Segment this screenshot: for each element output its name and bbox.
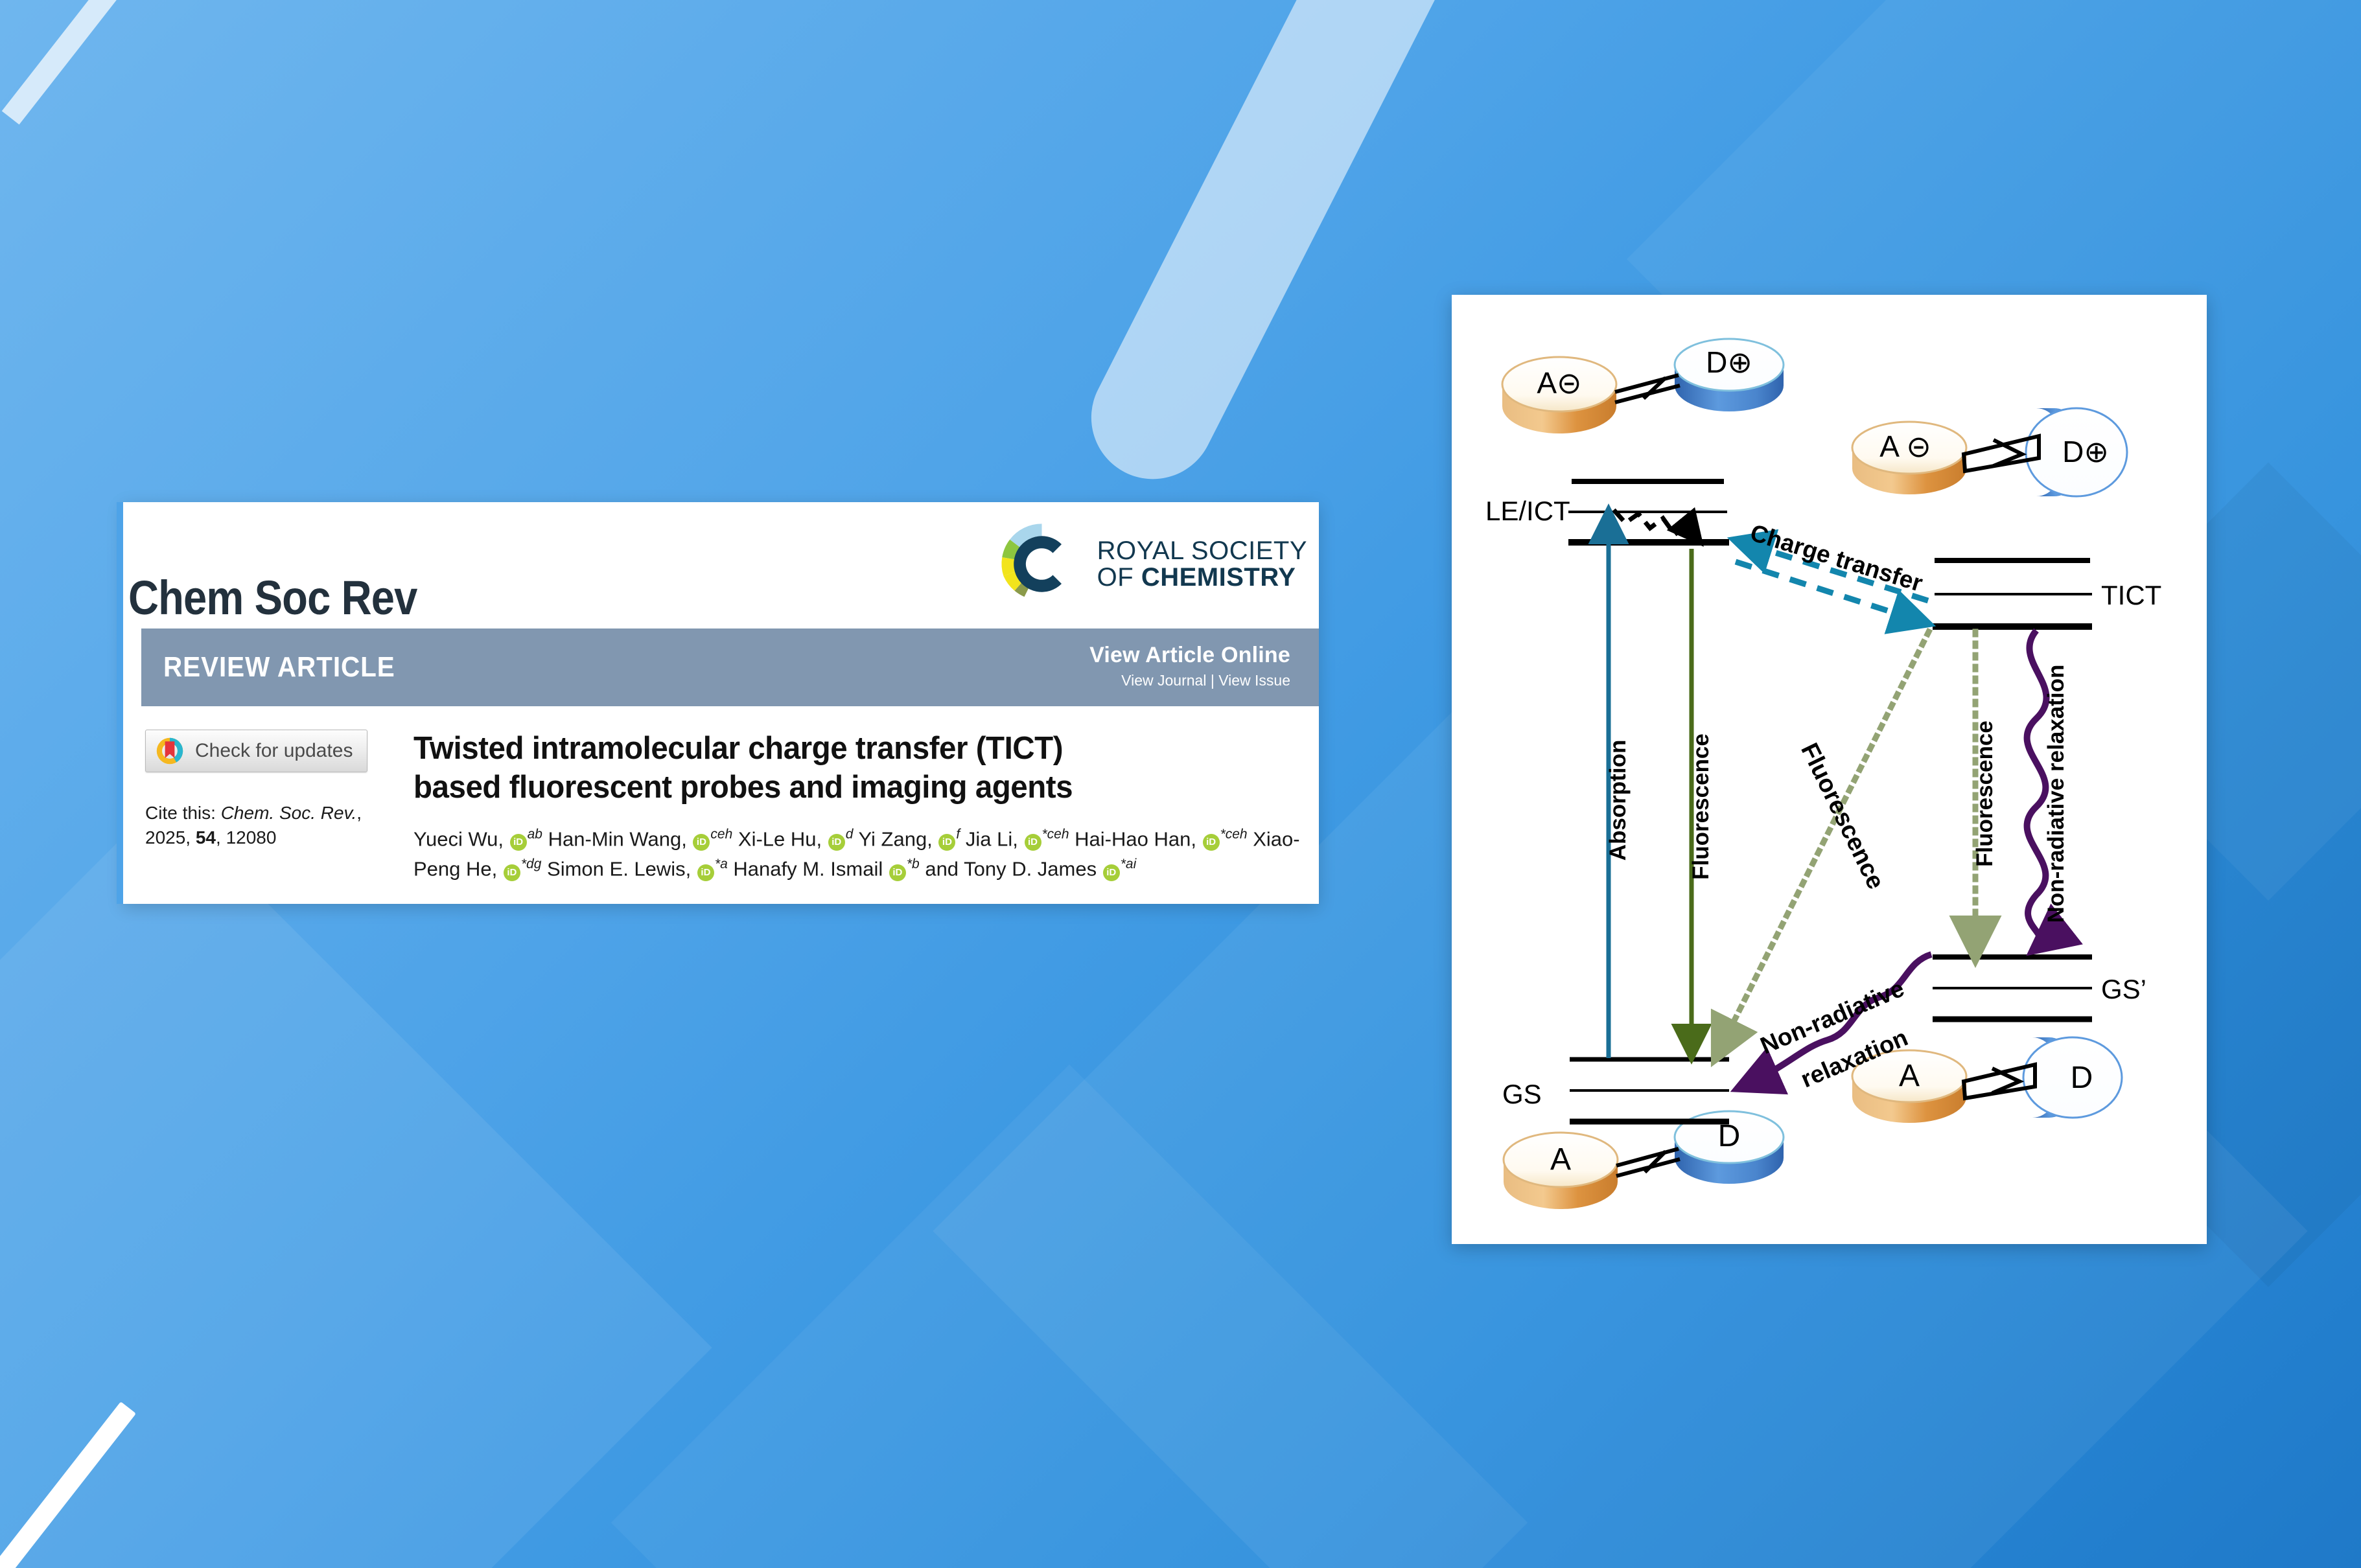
cite-prefix: Cite this: [145,803,221,823]
orcid-icon[interactable]: iD [504,864,520,881]
charge-transfer-label: Charge transfer [1747,519,1925,597]
publisher-line2-chemistry: CHEMISTRY [1141,563,1296,592]
molecule-tict: A ⊝ D⊕ [1852,408,2127,496]
energy-levels-tict [1933,560,2092,627]
author-affiliation: *ceh [1042,827,1069,842]
publisher-line1: ROYAL SOCIETY [1097,538,1307,564]
fluorescence-le-label: Fluorescence [1688,733,1714,880]
orcid-icon[interactable]: iD [1025,834,1041,851]
orcid-icon[interactable]: iD [693,834,710,851]
orcid-icon[interactable]: iD [828,834,845,851]
publisher-line2-of: OF [1097,563,1141,592]
energy-levels-gs [1570,1059,1729,1122]
view-article-online-block[interactable]: View Article Online View Journal | View … [1089,643,1290,689]
author-affiliation: *a [715,857,728,871]
journal-title: Chem Soc Rev [128,570,417,625]
author-name: Jia Li, [966,827,1024,850]
gs-state-label: GS [1502,1079,1542,1109]
cite-volume: 54 [196,827,216,847]
author-name: Han-Min Wang, [548,827,693,850]
check-for-updates-button[interactable]: Check for updates [145,730,367,772]
author-affiliation: *b [907,857,920,871]
citation-text: Cite this: Chem. Soc. Rev., 2025, 54, 12… [145,801,385,850]
article-title: Twisted intramolecular charge transfer (… [413,730,1275,807]
orcid-icon[interactable]: iD [938,834,955,851]
publisher-logo: ROYAL SOCIETY OF CHEMISTRY [998,520,1307,608]
le-ict-bond [1615,375,1680,402]
energy-levels-le-ict [1568,481,1729,542]
gs-prime-acceptor-label: A [1899,1059,1920,1093]
absorption-label: Absorption [1605,740,1631,861]
author-affiliation: d [846,827,854,842]
view-article-online-link[interactable]: View Article Online [1089,643,1290,668]
publisher-line2: OF CHEMISTRY [1097,564,1307,591]
gs-bond [1616,1149,1680,1176]
card-left-accent-bar [117,502,123,904]
author-name: Hanafy M. Ismail [733,858,888,881]
card-left-column: Check for updates Cite this: Chem. Soc. … [141,730,404,884]
tict-state-label: TICT [2101,580,2161,610]
tict-donor-label: D⊕ [2062,435,2109,468]
gs-acceptor-label: A [1550,1142,1571,1177]
le-ict-acceptor-label: A⊝ [1537,366,1581,400]
molecule-le-ict: A⊝ D⊕ [1502,339,1784,433]
article-title-line2: based fluorescent probes and imaging age… [413,768,1275,807]
le-ict-donor-label: D⊕ [1706,345,1752,379]
jablonski-diagram-panel: A⊝ D⊕ A ⊝ D⊕ A D A [1452,295,2207,1244]
view-journal-issue-links[interactable]: View Journal | View Issue [1089,672,1290,689]
card-right-column: Twisted intramolecular charge transfer (… [404,730,1319,884]
tict-acceptor-label: A ⊝ [1879,430,1931,463]
author-name: and Tony D. James [925,858,1102,881]
gs-prime-state-label: GS’ [2101,974,2146,1004]
card-body: Check for updates Cite this: Chem. Soc. … [123,706,1319,884]
author-affiliation: f [956,827,960,842]
crossmark-icon [155,736,185,766]
fluorescence-tict-label: Fluorescence [1972,721,1997,867]
nonradiative-vertical-label: Non-radiative relaxation [2043,665,2069,923]
card-header: Chem Soc Rev ROYAL SOCIETY OF CHEMISTRY [123,502,1319,628]
author-name: Yi Zang, [859,827,938,850]
gs-prime-donor-label: D [2071,1061,2093,1095]
author-name: Simon E. Lewis, [547,858,697,881]
orcid-icon[interactable]: iD [889,864,906,881]
review-article-bar: REVIEW ARTICLE View Article Online View … [141,628,1319,706]
author-name: Hai-Hao Han, [1075,827,1202,850]
vibrational-relaxation-arrow [1614,510,1698,540]
author-affiliation: ceh [710,827,732,842]
cite-pages: , 12080 [216,827,276,847]
publisher-name: ROYAL SOCIETY OF CHEMISTRY [1097,538,1307,591]
check-for-updates-label: Check for updates [195,740,353,762]
journal-article-card: Chem Soc Rev ROYAL SOCIETY OF CHEMISTRY … [123,502,1319,904]
energy-levels-gs-prime [1933,957,2092,1019]
cite-journal: Chem. Soc. Rev. [221,803,357,823]
le-ict-state-label: LE/ICT [1485,496,1570,526]
orcid-icon[interactable]: iD [1103,864,1120,881]
author-list: Yueci Wu, iDab Han-Min Wang, iDceh Xi-Le… [413,824,1302,885]
author-affiliation: *dg [521,857,542,871]
molecule-gs: A D [1504,1111,1784,1209]
author-affiliation: ab [528,827,542,842]
author-name: Yueci Wu, [413,827,509,850]
orcid-icon[interactable]: iD [697,864,714,881]
orcid-icon[interactable]: iD [510,834,527,851]
orcid-icon[interactable]: iD [1203,834,1220,851]
author-affiliation: *ai [1121,857,1137,871]
rsc-c-logo-icon [998,520,1086,608]
author-name: Xi-Le Hu, [738,827,828,850]
author-affiliation: *ceh [1220,827,1248,842]
jablonski-diagram-svg: A⊝ D⊕ A ⊝ D⊕ A D A [1452,295,2207,1244]
review-article-label: REVIEW ARTICLE [163,651,395,684]
article-title-line1: Twisted intramolecular charge transfer (… [413,730,1275,768]
